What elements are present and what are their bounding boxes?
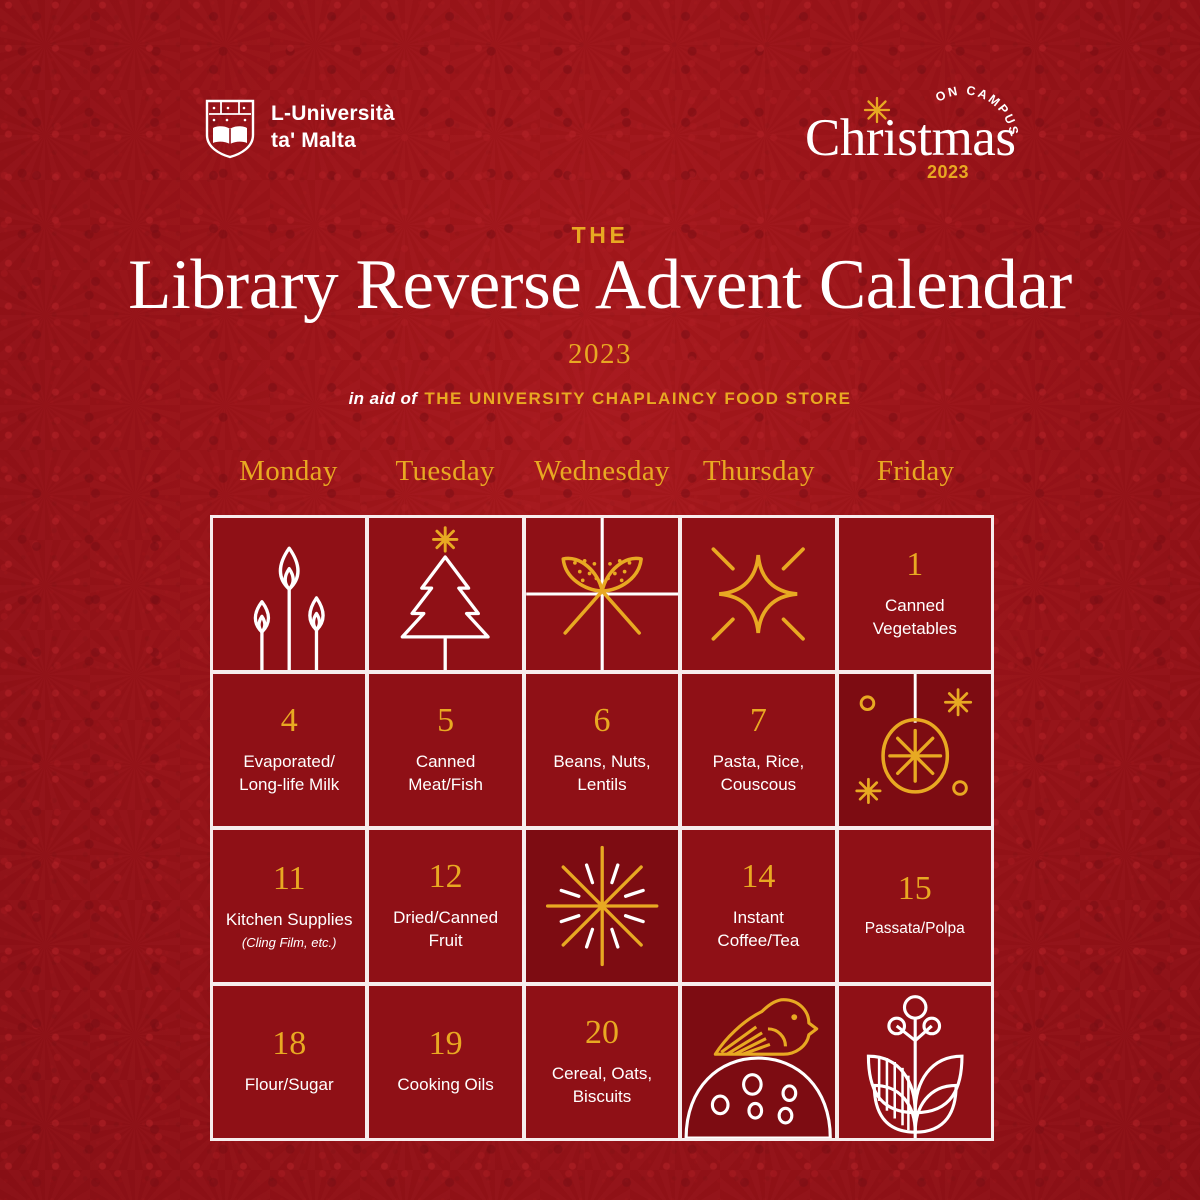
in-aid-of-store: THE UNIVERSITY CHAPLAINCY FOOD STORE: [424, 389, 851, 408]
day-label: Evaporated/ Long-life Milk: [213, 751, 365, 796]
university-wordmark: L-Università ta' Malta: [271, 101, 395, 155]
calendar-cell-candles[interactable]: [213, 518, 365, 670]
day-label: Pasta, Rice, Couscous: [682, 751, 834, 796]
calendar-cell-tree[interactable]: [369, 518, 521, 670]
christmas-on-campus-logo: Christmas ON CAMPUS 2023: [805, 88, 1030, 188]
in-aid-of-line: in aid ofTHE UNIVERSITY CHAPLAINCY FOOD …: [0, 389, 1200, 409]
weekday-wednesday: Wednesday: [524, 455, 681, 488]
mistletoe-plant-icon: [839, 986, 991, 1138]
calendar-cell-day-4[interactable]: 4 Evaporated/ Long-life Milk: [213, 674, 365, 826]
christmas-tree-icon: [369, 518, 521, 670]
gift-bow-icon: [526, 518, 678, 670]
on-campus-text: ON CAMPUS: [933, 86, 1021, 138]
calendar-cell-day-11[interactable]: 11 Kitchen Supplies (Cling Film, etc.): [213, 830, 365, 982]
advent-calendar-grid: 1 Canned Vegetables 4 Evaporated/ Long-l…: [210, 515, 994, 1141]
calendar-cell-day-5[interactable]: 5 Canned Meat/Fish: [369, 674, 521, 826]
christmas-year: 2023: [927, 162, 969, 183]
day-number: 15: [898, 872, 932, 906]
calendar-cell-sparkle[interactable]: [682, 518, 834, 670]
calendar-cell-starburst[interactable]: [526, 830, 678, 982]
weekday-thursday: Thursday: [680, 455, 837, 488]
day-label: Instant Coffee/Tea: [682, 907, 834, 952]
in-aid-of-prefix: in aid of: [349, 389, 418, 408]
day-number: 19: [429, 1027, 463, 1061]
day-number: 1: [906, 548, 923, 582]
weekday-monday: Monday: [210, 455, 367, 488]
day-label: Cooking Oils: [389, 1074, 501, 1096]
calendar-cell-day-15[interactable]: 15 Passata/Polpa: [839, 830, 991, 982]
four-point-sparkle-icon: [682, 518, 834, 670]
day-number: 11: [273, 862, 306, 896]
weekday-friday: Friday: [837, 455, 994, 488]
weekday-header-row: Monday Tuesday Wednesday Thursday Friday: [210, 455, 994, 488]
weekday-tuesday: Tuesday: [367, 455, 524, 488]
hanging-bauble-icon: [839, 674, 991, 826]
day-label: Canned Meat/Fish: [369, 751, 521, 796]
title-year: 2023: [0, 338, 1200, 371]
day-label: Flour/Sugar: [237, 1074, 342, 1096]
day-label: Kitchen Supplies: [218, 909, 361, 931]
three-candles-icon: [213, 518, 365, 670]
day-number: 7: [750, 704, 767, 738]
day-label: Canned Vegetables: [839, 595, 991, 640]
day-sublabel: (Cling Film, etc.): [242, 935, 337, 950]
day-label: Dried/Canned Fruit: [369, 907, 521, 952]
calendar-cell-day-6[interactable]: 6 Beans, Nuts, Lentils: [526, 674, 678, 826]
calendar-cell-day-12[interactable]: 12 Dried/Canned Fruit: [369, 830, 521, 982]
starburst-icon: [526, 830, 678, 982]
day-label: Passata/Polpa: [857, 919, 973, 939]
day-label: Beans, Nuts, Lentils: [526, 751, 678, 796]
calendar-cell-day-20[interactable]: 20 Cereal, Oats, Biscuits: [526, 986, 678, 1138]
day-number: 4: [281, 704, 298, 738]
svg-text:ON CAMPUS: ON CAMPUS: [933, 86, 1021, 138]
calendar-cell-plant[interactable]: [839, 986, 991, 1138]
calendar-cell-bird[interactable]: [682, 986, 834, 1138]
calendar-cell-bauble[interactable]: [839, 674, 991, 826]
calendar-cell-day-18[interactable]: 18 Flour/Sugar: [213, 986, 365, 1138]
calendar-cell-day-19[interactable]: 19 Cooking Oils: [369, 986, 521, 1138]
university-logo: L-Università ta' Malta: [203, 97, 395, 159]
calendar-cell-day-14[interactable]: 14 Instant Coffee/Tea: [682, 830, 834, 982]
calendar-cell-day-7[interactable]: 7 Pasta, Rice, Couscous: [682, 674, 834, 826]
day-number: 5: [437, 704, 454, 738]
day-number: 20: [585, 1016, 619, 1050]
day-label: Cereal, Oats, Biscuits: [526, 1063, 678, 1108]
calendar-cell-gift[interactable]: [526, 518, 678, 670]
calendar-cell-day-1[interactable]: 1 Canned Vegetables: [839, 518, 991, 670]
title-eyebrow: THE: [0, 222, 1200, 249]
uom-crest-icon: [203, 97, 257, 159]
day-number: 6: [593, 704, 610, 738]
day-number: 12: [429, 860, 463, 894]
page-title: Library Reverse Advent Calendar: [0, 248, 1200, 323]
bird-on-snow-icon: [682, 986, 834, 1138]
day-number: 14: [741, 860, 775, 894]
day-number: 18: [272, 1027, 306, 1061]
